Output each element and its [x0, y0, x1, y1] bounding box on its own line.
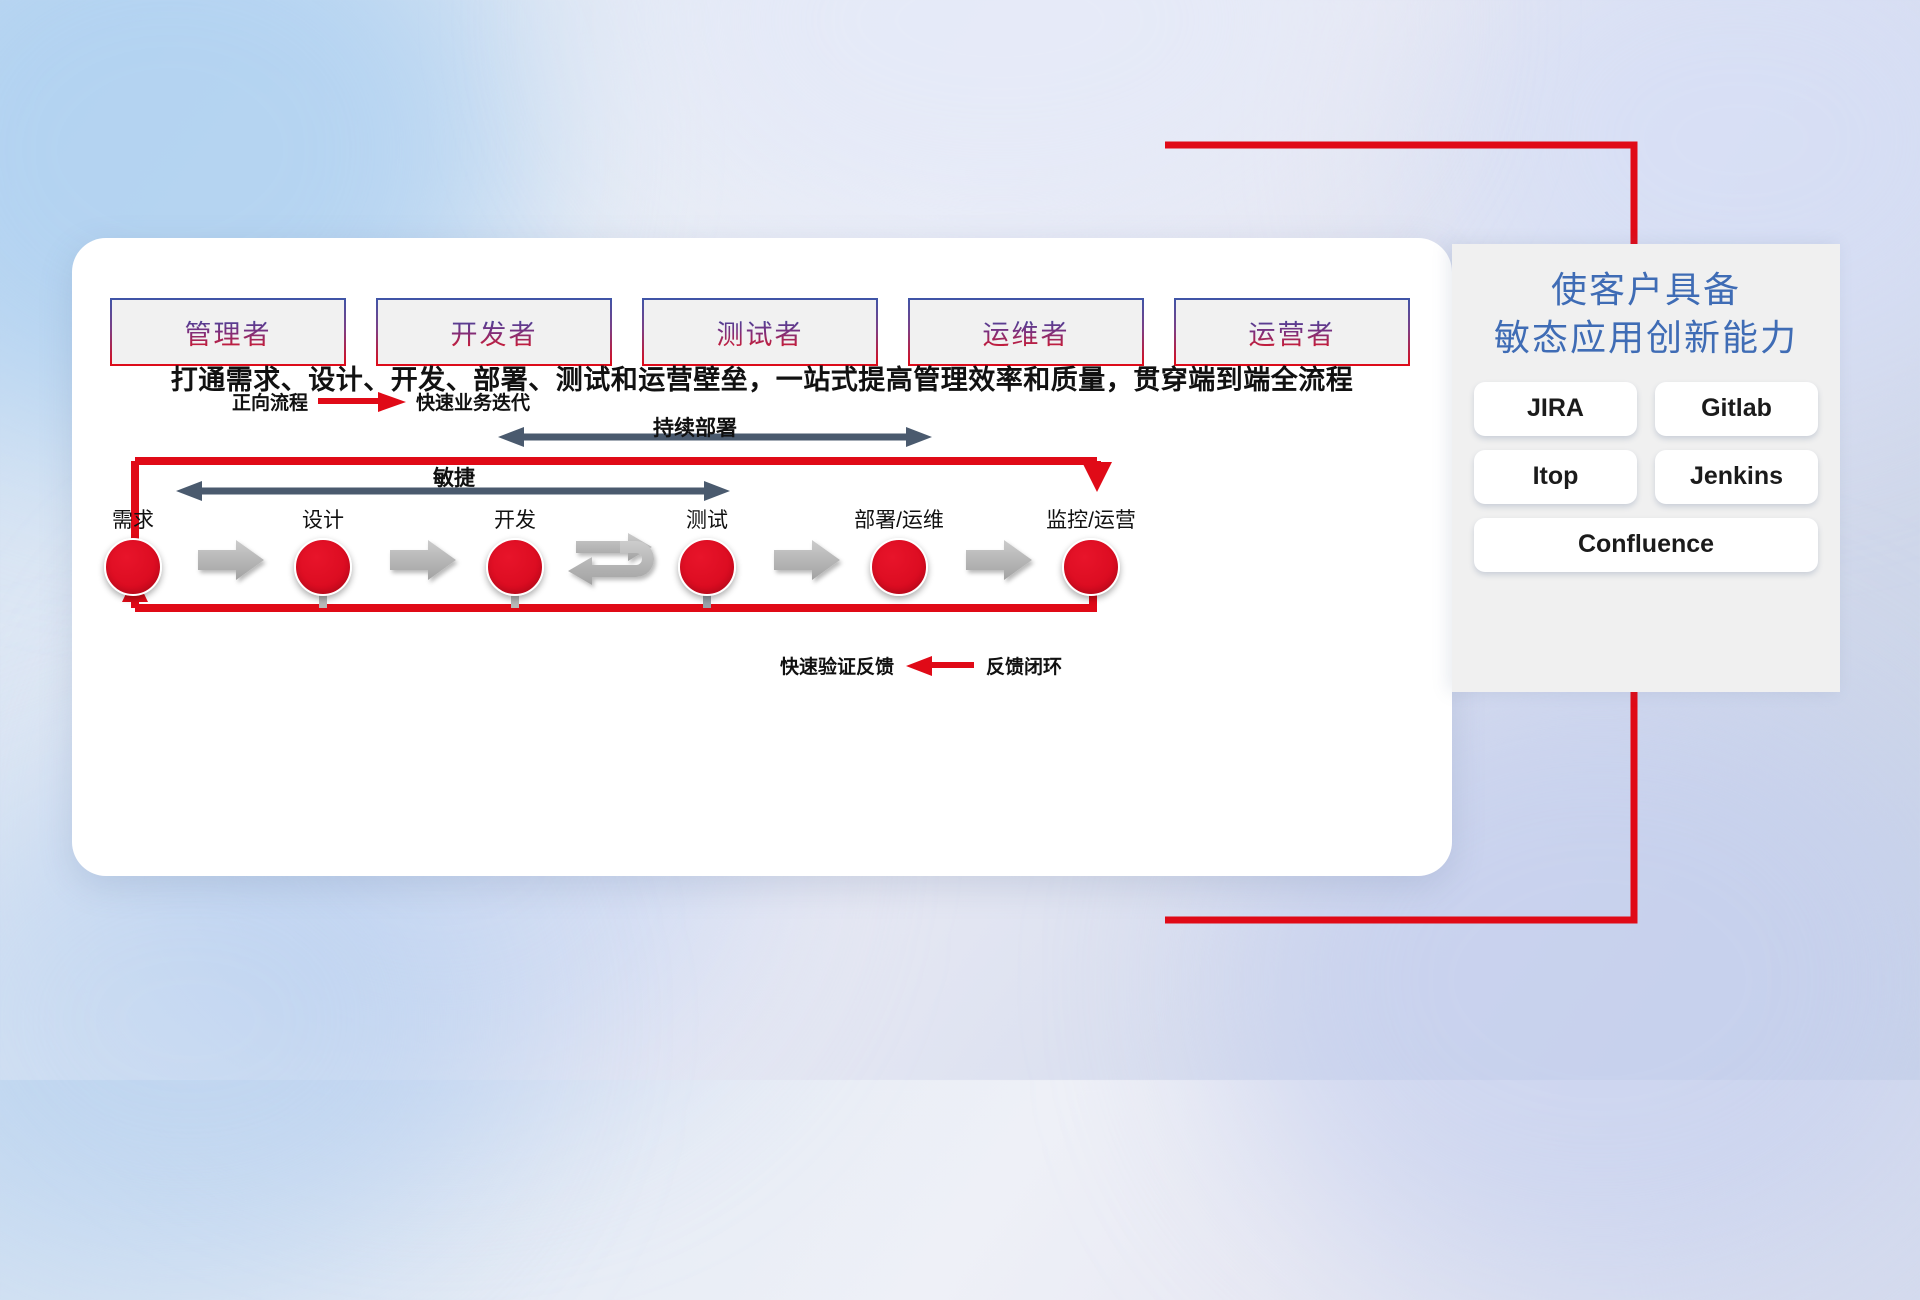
pipeline-node-label: 部署/运维 — [804, 504, 994, 534]
tool-panel-heading-line1: 使客户具备 — [1452, 266, 1840, 314]
pipeline-node-label: 测试 — [612, 504, 802, 534]
pipeline-node-dot — [678, 538, 736, 596]
pipeline-node-design[interactable]: 设计 — [228, 504, 418, 596]
tool-chip-itop[interactable]: Itop — [1474, 450, 1637, 504]
pipeline-node-monitor-operations[interactable]: 监控/运营 — [996, 504, 1186, 596]
tool-panel-heading-line2: 敏态应用创新能力 — [1452, 314, 1840, 362]
tool-panel-heading: 使客户具备 敏态应用创新能力 — [1452, 266, 1840, 362]
tool-panel: 使客户具备 敏态应用创新能力 JIRA Gitlab Itop Jenkins … — [1452, 244, 1840, 692]
pipeline-node-label: 设计 — [228, 504, 418, 534]
pipeline-node-dot — [486, 538, 544, 596]
pipeline-node-dot — [1062, 538, 1120, 596]
pipeline-node-label: 需求 — [38, 504, 228, 534]
pipeline-node-label: 开发 — [420, 504, 610, 534]
pipeline-node-dot — [870, 538, 928, 596]
tool-chip-jenkins[interactable]: Jenkins — [1655, 450, 1818, 504]
pipeline-node-dot — [294, 538, 352, 596]
pipeline-node-develop[interactable]: 开发 — [420, 504, 610, 596]
pipeline-node-test[interactable]: 测试 — [612, 504, 802, 596]
tool-chip-gitlab[interactable]: Gitlab — [1655, 382, 1818, 436]
tool-chip-jira[interactable]: JIRA — [1474, 382, 1637, 436]
tool-chip-confluence[interactable]: Confluence — [1474, 518, 1818, 572]
pipeline-node-deploy-ops[interactable]: 部署/运维 — [804, 504, 994, 596]
pipeline-node-requirements[interactable]: 需求 — [38, 504, 228, 596]
pipeline-node-label: 监控/运营 — [996, 504, 1186, 534]
tool-chip-grid: JIRA Gitlab Itop Jenkins Confluence — [1474, 382, 1818, 572]
pipeline-node-dot — [104, 538, 162, 596]
